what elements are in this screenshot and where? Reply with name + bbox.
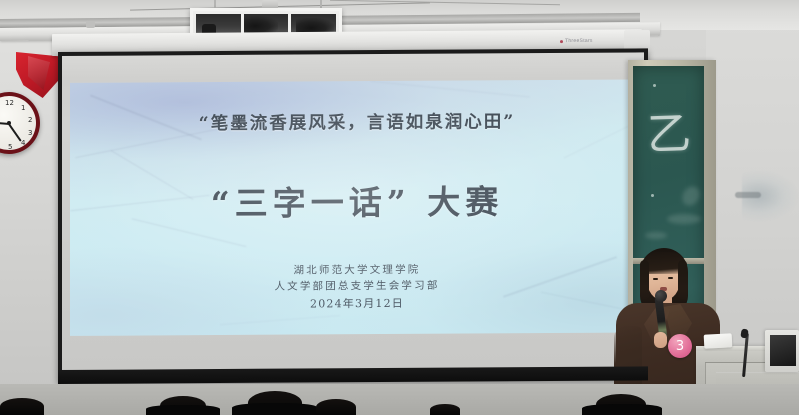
slide-title: “三字一话” 大赛 bbox=[70, 174, 644, 226]
audience-head bbox=[316, 399, 356, 415]
brand-name: ThreeStars bbox=[565, 38, 593, 44]
audience-head bbox=[0, 398, 44, 415]
clock-center-pin bbox=[7, 121, 11, 125]
classroom-scene: 12 1 2 3 4 5 6 bbox=[0, 0, 799, 415]
clock-numeral-1: 1 bbox=[21, 104, 25, 112]
chalk-smudge bbox=[645, 232, 667, 239]
clock-face: 12 1 2 3 4 5 6 bbox=[0, 96, 36, 150]
wall-crack bbox=[735, 192, 761, 198]
clock-numeral-2: 2 bbox=[28, 116, 32, 124]
presenter-hand bbox=[654, 332, 667, 348]
ceiling-mount-bracket bbox=[86, 21, 95, 28]
presenter-hair-side bbox=[678, 260, 687, 300]
badge-number: 3 bbox=[676, 340, 684, 353]
foreground-floor bbox=[0, 384, 799, 415]
chalk-smudge bbox=[679, 183, 703, 208]
podium-monitor bbox=[765, 330, 799, 372]
audience-shoulders bbox=[146, 405, 220, 415]
chalk-dot bbox=[653, 84, 656, 87]
slide-headline: “笔墨流香展风采，言语如泉润心田” bbox=[70, 107, 644, 136]
slide-date: 2024年3月12日 bbox=[70, 294, 644, 314]
slide-credits: 湖北师范大学文理学院 人文学部团总支学生会学习部 2024年3月12日 bbox=[70, 261, 644, 314]
screen-brand-label: ThreeStars bbox=[560, 38, 593, 44]
clock-minute-hand bbox=[8, 123, 21, 141]
projection-screen: “笔墨流香展风采，言语如泉润心田” “三字一话” 大赛 湖北师范大学文理学院 人… bbox=[58, 48, 648, 382]
ink-wash-vein bbox=[220, 315, 340, 325]
chalk-smudge bbox=[667, 214, 701, 224]
presenter-hair-side bbox=[640, 260, 649, 300]
projected-slide: “笔墨流香展风采，言语如泉润心田” “三字一话” 大赛 湖北师范大学文理学院 人… bbox=[70, 79, 644, 336]
ink-wash-vein bbox=[370, 81, 529, 98]
presenter-eye bbox=[668, 277, 673, 279]
clock-numeral-3: 3 bbox=[28, 129, 32, 137]
presenter-eye bbox=[653, 278, 658, 280]
audience-shoulders bbox=[232, 403, 318, 415]
brand-logo-icon bbox=[560, 40, 563, 43]
audience-head bbox=[430, 404, 460, 415]
chalk-dot bbox=[651, 194, 654, 197]
podium-papers bbox=[704, 333, 733, 348]
clock-numeral-5: 5 bbox=[8, 143, 12, 151]
screen-surface: “笔墨流香展风采，言语如泉润心田” “三字一话” 大赛 湖北师范大学文理学院 人… bbox=[62, 52, 644, 375]
podium-monitor-screen bbox=[770, 335, 796, 366]
audience-shoulders bbox=[582, 404, 662, 415]
chalk-character: 乙 bbox=[646, 97, 692, 162]
clock-numeral-12: 12 bbox=[5, 99, 14, 107]
contestant-number-badge: 3 bbox=[668, 334, 692, 358]
